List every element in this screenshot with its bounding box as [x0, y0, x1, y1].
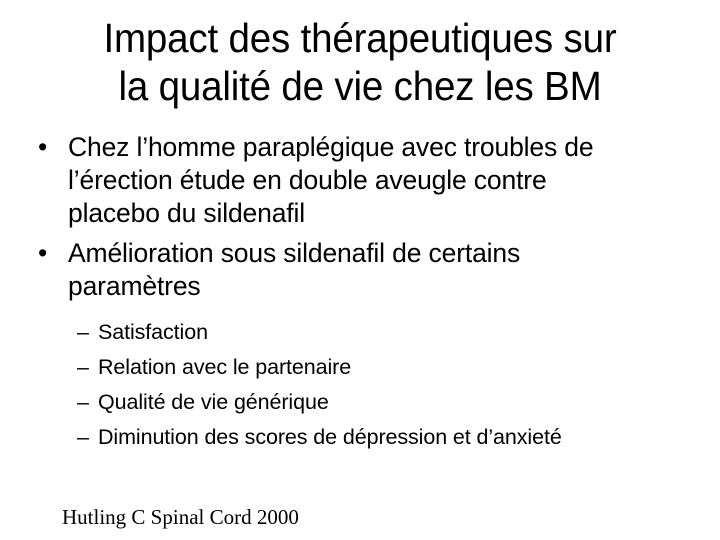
dash-marker-icon: – [77, 350, 97, 385]
slide-title: Impact des thérapeutiques sur la qualité… [40, 14, 680, 110]
presentation-slide: Impact des thérapeutiques sur la qualité… [0, 0, 720, 540]
bullet-text: Chez l’homme paraplégique avec troubles … [68, 131, 640, 230]
citation-reference: Hutling C Spinal Cord 2000 [62, 504, 299, 530]
slide-title-line-1: Impact des thérapeutiques sur [59, 14, 661, 62]
sub-bullet-text: Diminution des scores de dépression et d… [98, 425, 562, 449]
sub-bullet-item: – Diminution des scores de dépression et… [0, 420, 720, 455]
slide-body: • Chez l’homme paraplégique avec trouble… [0, 131, 720, 455]
dash-marker-icon: – [77, 420, 97, 455]
bullet-marker-icon: • [38, 131, 58, 164]
sub-bullet-item: – Satisfaction [0, 315, 720, 350]
sub-bullet-text: Qualité de vie générique [98, 390, 329, 414]
bullet-marker-icon: • [38, 237, 58, 270]
sub-bullet-item: – Relation avec le partenaire [0, 350, 720, 385]
sub-bullet-text: Satisfaction [98, 320, 208, 344]
bullet-text: Amélioration sous sildenafil de certains… [68, 237, 640, 303]
bullet-item: • Amélioration sous sildenafil de certai… [0, 237, 720, 303]
sub-bullet-text: Relation avec le partenaire [98, 355, 351, 379]
sub-bullet-item: – Qualité de vie générique [0, 385, 720, 420]
dash-marker-icon: – [77, 315, 97, 350]
slide-title-line-2: la qualité de vie chez les BM [59, 62, 661, 110]
sub-bullet-list: – Satisfaction – Relation avec le parten… [0, 315, 720, 455]
bullet-item: • Chez l’homme paraplégique avec trouble… [0, 131, 720, 230]
dash-marker-icon: – [77, 385, 97, 420]
